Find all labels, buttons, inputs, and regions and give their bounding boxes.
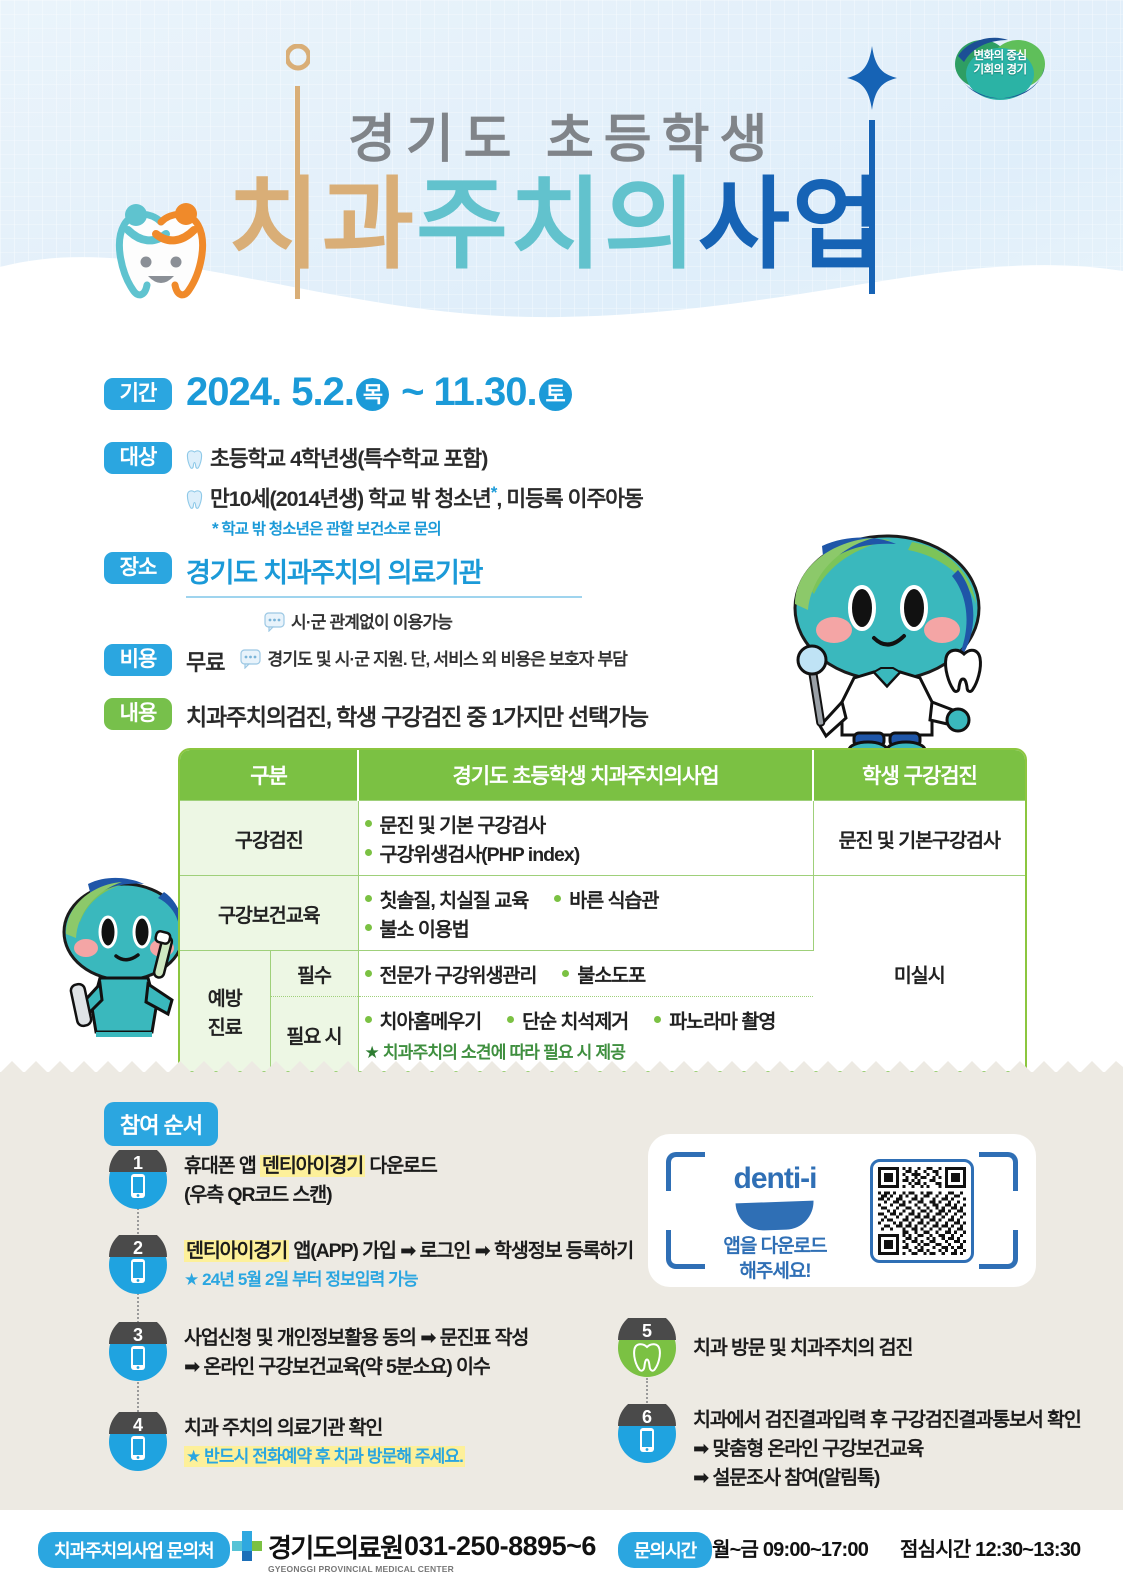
table-header-row: 구분 경기도 초등학생 치과주치의사업 학생 구강검진	[180, 750, 1025, 801]
info-row-target: 대상 초등학교 4학년생(특수학교 포함) 만10세(2014년생) 학교 밖 …	[104, 442, 643, 539]
title-char-1: 치	[228, 175, 322, 275]
qr-code-image[interactable]	[870, 1159, 974, 1263]
qr-brand-name: denti-i	[700, 1162, 850, 1196]
bullet-dot-icon	[365, 1016, 372, 1023]
table-row: 구강검진 문진 및 기본 구강검사 구강위생검사(PHP index) 문진 및…	[180, 801, 1025, 876]
hero-banner: 변화의 중심 기회의 경기 경기도 초등학생 치과주치의사업	[0, 0, 1123, 345]
step-1-l1-post: 다운로드	[365, 1155, 437, 1177]
poster-subtitle: 경기도 초등학생	[348, 97, 777, 172]
place-value: 경기도 치과주치의 의료기관	[186, 551, 482, 590]
footer-lunch: 점심시간 12:30~13:30	[900, 1533, 1080, 1562]
qr-brand-block: denti-i 앱을 다운로드 해주세요!	[700, 1162, 850, 1284]
step-2-number: 2	[108, 1238, 168, 1259]
step-4-number: 4	[108, 1415, 168, 1436]
bullet-dot-icon	[654, 1016, 661, 1023]
period-end: 11.30.	[434, 370, 537, 414]
qr-download-card[interactable]: denti-i 앱을 다운로드 해주세요!	[648, 1134, 1036, 1287]
item-text: 단순 치석제거	[522, 1005, 628, 1034]
footnote-asterisk: *	[212, 519, 218, 538]
row-right-oral-exam: 문진 및 기본구강검사	[813, 801, 1025, 876]
item-text: 전문가 구강위생관리	[380, 959, 537, 988]
qr-frame-corner-tr-icon	[979, 1152, 1018, 1191]
item-text: 파노라마 촬영	[669, 1005, 775, 1034]
item-text: 칫솔질, 치실질 교육	[380, 884, 529, 913]
period-start: 2024. 5.2.	[186, 370, 354, 414]
info-row-content: 내용 치과주치의검진, 학생 구강검진 중 1가지만 선택가능	[104, 698, 648, 732]
cost-note: 경기도 및 시·군 지원. 단, 서비스 외 비용은 보호자 부담	[240, 645, 627, 670]
period-value: 2024. 5.2.목 ~ 11.30.토	[186, 376, 574, 411]
step-4: 4 치과 주치의 의료기관 확인 ★ 반드시 전화예약 후 치과 방문해 주세요…	[108, 1412, 608, 1492]
step-2-l1-post: 앱(APP) 가입 ➡ 로그인 ➡ 학생정보 등록하기	[289, 1240, 633, 1262]
tooth-kids-logo-icon	[98, 186, 224, 304]
step-5: 5 치과 방문 및 치과주치의 검진	[617, 1318, 1087, 1388]
item-text: 불소도포	[577, 959, 645, 988]
step-5-number: 5	[617, 1321, 677, 1342]
step-1-line-1: 휴대폰 앱 덴티아이경기 다운로드	[184, 1152, 437, 1181]
bullet-dot-icon	[365, 970, 372, 977]
period-end-dow: 토	[539, 378, 572, 411]
row-items-education: 칫솔질, 치실질 교육 바른 식습관 불소 이용법	[358, 876, 813, 951]
cost-value: 무료	[186, 645, 224, 677]
tooth-bullet-icon-2	[186, 489, 203, 509]
qr-cta-line-1: 앱을 다운로드	[700, 1234, 850, 1259]
bullet-dot-icon	[562, 970, 569, 977]
step-1-line-2: (우측 QR코드 스캔)	[184, 1181, 437, 1210]
table-header-category: 구분	[180, 750, 358, 801]
step-4-line-1: 치과 주치의 의료기관 확인	[184, 1414, 465, 1443]
target-body: 초등학교 4학년생(특수학교 포함) 만10세(2014년생) 학교 밖 청소년…	[186, 442, 643, 539]
step-3-line-1: 사업신청 및 개인정보활용 동의 ➡ 문진표 작성	[184, 1324, 528, 1353]
item-text: 바른 식습관	[569, 884, 658, 913]
place-tag: 장소	[104, 552, 172, 584]
bullet-dot-icon	[365, 820, 372, 827]
target-text-2: 만10세(2014년생) 학교 밖 청소년	[210, 487, 491, 511]
target-text-2-suffix: , 미등록 이주아동	[496, 487, 642, 511]
step-4-text: 치과 주치의 의료기관 확인 ★ 반드시 전화예약 후 치과 방문해 주세요.	[184, 1414, 465, 1470]
step-2-text: 덴티아이경기 앱(APP) 가입 ➡ 로그인 ➡ 학생정보 등록하기 ★ 24년…	[184, 1237, 633, 1293]
step-6-line-1: 치과에서 검진결과입력 후 구강검진결과통보서 확인	[693, 1406, 1081, 1435]
footer-hours-tag: 문의시간	[618, 1532, 712, 1568]
target-text-1: 초등학교 4학년생(특수학교 포함)	[210, 447, 487, 471]
gyeonggi-brand-badge	[952, 34, 1048, 108]
poster-root: 변화의 중심 기회의 경기 경기도 초등학생 치과주치의사업 기간	[0, 0, 1123, 1587]
table-header-program: 경기도 초등학생 치과주치의사업	[358, 750, 813, 801]
period-tilde: ~	[401, 370, 423, 414]
step-2-line-1: 덴티아이경기 앱(APP) 가입 ➡ 로그인 ➡ 학생정보 등록하기	[184, 1237, 633, 1266]
footer-org-en: GYEONGGI PROVINCIAL MEDICAL CENTER	[268, 1564, 454, 1574]
bullet-dot-icon	[365, 895, 372, 902]
step-1: 1 휴대폰 앱 덴티아이경기 다운로드 (우측 QR코드 스캔)	[108, 1150, 578, 1230]
title-char-4: 치	[510, 175, 604, 275]
item-text: 치아홈메우기	[380, 1005, 482, 1034]
step-5-text: 치과 방문 및 치과주치의 검진	[693, 1334, 912, 1363]
info-row-period: 기간 2024. 5.2.목 ~ 11.30.토	[104, 378, 574, 413]
target-tag: 대상	[104, 442, 172, 474]
title-char-3: 주	[416, 175, 510, 275]
step-3-line-2: ➡ 온라인 구강보건교육(약 5분소요) 이수	[184, 1353, 528, 1382]
poster-main-title: 치과주치의사업	[228, 175, 886, 275]
bullet-dot-icon	[507, 1016, 514, 1023]
row-label-prevention-l1: 예방	[186, 982, 264, 1011]
title-char-6: 사	[698, 175, 792, 275]
footer-bar: 치과주치의사업 문의처 경기도의료원 GYEONGGI PROVINCIAL M…	[0, 1510, 1123, 1587]
step-3-number: 3	[108, 1325, 168, 1346]
row-label-prevention-l2: 진료	[186, 1011, 264, 1040]
table-header-screening: 학생 구강검진	[813, 750, 1025, 801]
item-text: 문진 및 기본 구강검사	[380, 809, 546, 838]
target-footnote-text: 학교 밖 청소년은 관할 보건소로 문의	[221, 521, 440, 538]
step-1-l1-highlight: 덴티아이경기	[260, 1155, 365, 1177]
mascot-dentist-icon	[762, 530, 1012, 760]
qr-cta-line-2: 해주세요!	[700, 1259, 850, 1284]
table-row: 구강보건교육 칫솔질, 치실질 교육 바른 식습관 불소 이용법 미실시	[180, 876, 1025, 951]
period-start-dow: 목	[356, 378, 389, 411]
row-sublabel-required: 필수	[270, 951, 358, 997]
place-note: 시·군 관계없이 이용가능	[264, 608, 452, 633]
footer-contact-tag: 치과주치의사업 문의처	[38, 1532, 230, 1568]
participation-section-tag: 참여 순서	[104, 1102, 218, 1146]
bullet-dot-icon	[365, 849, 372, 856]
period-tag: 기간	[104, 378, 172, 410]
content-tag: 내용	[104, 698, 172, 730]
tooth-bullet-icon	[186, 449, 203, 469]
speech-bubble-icon-2	[240, 649, 262, 669]
footer-hours: 월~금 09:00~17:00	[712, 1533, 868, 1562]
step-3-text: 사업신청 및 개인정보활용 동의 ➡ 문진표 작성 ➡ 온라인 구강보건교육(약…	[184, 1324, 528, 1382]
row-label-prevention: 예방 진료	[180, 951, 270, 1072]
speech-bubble-icon	[264, 612, 286, 632]
target-line-2: 만10세(2014년생) 학교 밖 청소년*, 미등록 이주아동	[186, 476, 643, 516]
title-char-2: 과	[322, 175, 416, 275]
step-1-text: 휴대폰 앱 덴티아이경기 다운로드 (우측 QR코드 스캔)	[184, 1152, 437, 1210]
content-value: 치과주치의검진, 학생 구강검진 중 1가지만 선택가능	[186, 698, 648, 732]
place-underline	[186, 596, 582, 598]
row-label-education: 구강보건교육	[180, 876, 358, 951]
qr-code-modules	[878, 1167, 966, 1255]
title-char-7: 업	[792, 175, 886, 275]
step-2-l1-highlight: 덴티아이경기	[184, 1240, 289, 1262]
step-6-line-2: ➡ 맞춤형 온라인 구강보건교육	[693, 1435, 1081, 1464]
bullet-dot-icon	[554, 895, 561, 902]
step-2: 2 덴티아이경기 앱(APP) 가입 ➡ 로그인 ➡ 학생정보 등록하기 ★ 2…	[108, 1235, 608, 1315]
step-6-line-3: ➡ 설문조사 참여(알림톡)	[693, 1464, 1081, 1493]
step-4-line-2: ★ 반드시 전화예약 후 치과 방문해 주세요.	[184, 1443, 465, 1470]
title-char-5: 의	[604, 175, 698, 275]
info-row-cost: 비용 무료 경기도 및 시·군 지원. 단, 서비스 외 비용은 보호자 부담	[104, 644, 627, 676]
bullet-dot-icon	[365, 924, 372, 931]
row-items-oral-exam: 문진 및 기본 구강검사 구강위생검사(PHP index)	[358, 801, 813, 876]
row-items-required: 전문가 구강위생관리 불소도포	[358, 951, 813, 997]
step-5-line-1: 치과 방문 및 치과주치의 검진	[693, 1334, 912, 1363]
footer-telephone: 031-250-8895~6	[404, 1531, 596, 1562]
step-1-number: 1	[108, 1153, 168, 1174]
medical-cross-icon	[230, 1529, 264, 1563]
step-4-l2-highlight: ★ 반드시 전화예약 후 치과 방문해 주세요.	[184, 1446, 465, 1467]
step-6-text: 치과에서 검진결과입력 후 구강검진결과통보서 확인 ➡ 맞춤형 온라인 구강보…	[693, 1406, 1081, 1493]
place-note-text: 시·군 관계없이 이용가능	[291, 613, 452, 632]
denti-smile-icon	[736, 1201, 815, 1232]
item-text: 불소 이용법	[380, 913, 469, 942]
cost-note-text: 경기도 및 시·군 지원. 단, 서비스 외 비용은 보호자 부담	[267, 650, 627, 669]
cost-tag: 비용	[104, 644, 172, 676]
step-6-number: 6	[617, 1407, 677, 1428]
step-1-l1-pre: 휴대폰 앱	[184, 1155, 260, 1177]
step-3: 3 사업신청 및 개인정보활용 동의 ➡ 문진표 작성 ➡ 온라인 구강보건교육…	[108, 1322, 608, 1402]
info-row-place: 장소 경기도 치과주치의 의료기관 시·군 관계없이 이용가능	[104, 552, 482, 591]
row-label-oral-exam: 구강검진	[180, 801, 358, 876]
item-text: 구강위생검사(PHP index)	[380, 838, 580, 867]
step-6: 6 치과에서 검진결과입력 후 구강검진결과통보서 확인 ➡ 맞춤형 온라인 구…	[617, 1404, 1087, 1504]
target-footnote: * 학교 밖 청소년은 관할 보건소로 문의	[212, 517, 643, 539]
step-2-line-2: ★ 24년 5월 2일 부터 정보입력 가능	[184, 1266, 633, 1293]
target-line-1: 초등학교 4학년생(특수학교 포함)	[186, 442, 643, 476]
row-right-not-performed: 미실시	[813, 876, 1025, 1072]
qr-frame-corner-br-icon	[979, 1230, 1018, 1269]
